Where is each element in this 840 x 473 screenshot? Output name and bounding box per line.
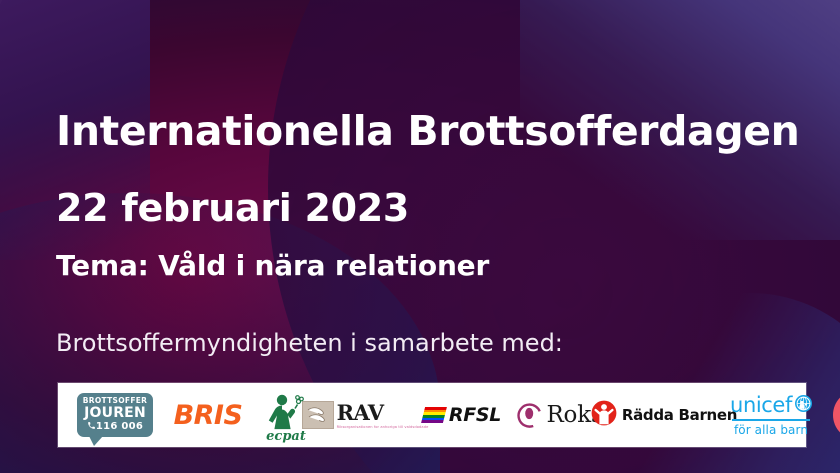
roks-mark-icon [517,403,542,428]
logo-bris: BRIS [164,383,252,447]
logo-radda-barnen: Rädda Barnen [608,383,720,447]
slide-title: Internationella Brottsofferdagen [56,107,799,155]
logo-unicef: unicef [720,383,822,447]
child-circle-icon [591,400,617,426]
partner-logo-bar: BROTTSOFFER JOUREN 116 006 BRIS [58,383,806,447]
unicef-globe-icon [795,395,812,416]
logo-rfsl: RFSL [412,383,512,447]
unizon-circle-icon: uni zon [833,390,840,440]
slide-content: Internationella Brottsofferdagen 22 febr… [0,0,840,473]
slide-date: 22 februari 2023 [56,186,409,230]
logo-ecpat: ecpat [252,383,318,447]
logo-ecpat-text: ecpat [259,429,313,444]
logo-brottsofferjouren-line2: JOUREN [83,406,148,420]
slide-subtitle: Brottsoffermyndigheten i samarbete med: [56,329,563,357]
phone-icon [87,421,96,430]
slide-theme: Tema: Våld i nära relationer [56,249,489,282]
logo-bris-text: BRIS [174,400,243,431]
logo-unicef-subtitle: för alla barn [734,423,808,437]
logo-brottsofferjouren: BROTTSOFFER JOUREN 116 006 [58,383,164,447]
globe-mother-child-icon [795,395,812,412]
radda-barnen-mark-icon [591,400,617,430]
speech-bubble-icon: BROTTSOFFER JOUREN 116 006 [77,393,154,437]
unicef-divider [732,419,810,421]
logo-rav: RAV Riksorganisationen for anhoriga till… [318,383,412,447]
logo-unicef-text: unicef [730,393,792,417]
logo-brottsofferjouren-line1: BROTTSOFFER [83,397,148,405]
logo-rfsl-text: RFSL [449,404,501,426]
rainbow-flag-icon [421,407,447,423]
logo-unizon: uni zon [822,383,840,447]
woman-circle-icon [517,403,542,428]
presentation-slide: Internationella Brottsofferdagen 22 febr… [0,0,840,473]
logo-brottsofferjouren-line3: 116 006 [83,421,148,432]
